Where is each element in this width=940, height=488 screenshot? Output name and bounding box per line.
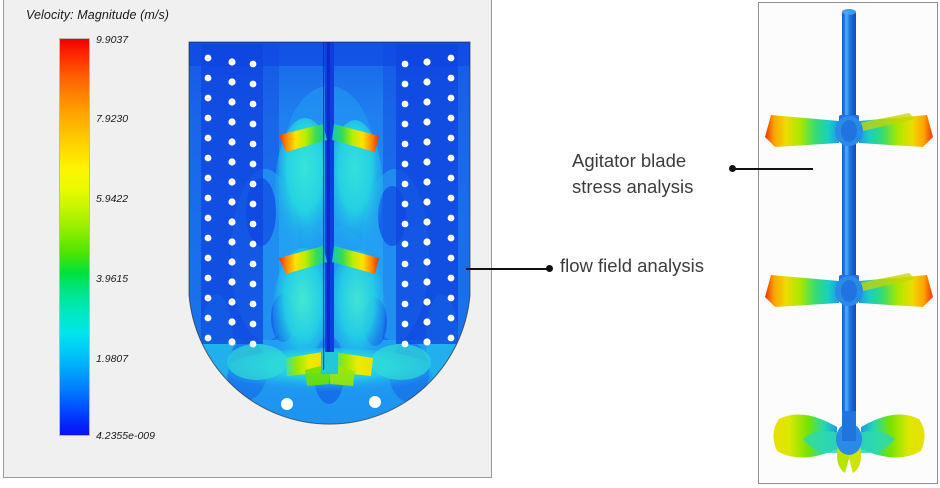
agitator-stress-leader-line xyxy=(733,168,813,170)
colorbar-tick-label-3: 3.9615 xyxy=(96,274,128,285)
vessel-field xyxy=(187,40,472,467)
coil-bundle-left xyxy=(201,44,263,347)
agitator-stress-annotation-line1: Agitator blade xyxy=(572,148,693,174)
vessel-cross-section xyxy=(187,40,472,467)
cfd-flow-field-panel: Velocity: Magnitude (m/s) 9.9037 7.9230 … xyxy=(3,0,492,478)
velocity-colorbar: 9.9037 7.9230 5.9422 3.9615 1.9807 4.235… xyxy=(59,38,159,440)
sparger-hole-left xyxy=(281,398,293,410)
colorbar-tick-label-2: 5.9422 xyxy=(96,194,128,205)
sparger-hole-right xyxy=(369,396,381,408)
agitator-stress-annotation-line2: stress analysis xyxy=(572,174,693,200)
colorbar-tick-label-0: 9.9037 xyxy=(96,35,128,46)
figure-root: Velocity: Magnitude (m/s) 9.9037 7.9230 … xyxy=(0,0,940,488)
velocity-colorbar-gradient xyxy=(59,38,90,436)
impeller-stress-bottom xyxy=(773,411,924,473)
agitator-shaft xyxy=(839,9,859,447)
impeller-stress-upper xyxy=(765,113,933,147)
colorbar-tick-label-1: 7.9230 xyxy=(96,114,128,125)
flow-field-leader-line xyxy=(466,268,548,270)
agitator-stress-panel xyxy=(758,2,938,484)
fea-svg xyxy=(759,3,937,483)
flow-field-annotation: flow field analysis xyxy=(560,253,704,279)
coil-bundle-right xyxy=(396,44,458,347)
contour-svg xyxy=(187,40,472,467)
velocity-contour-plot xyxy=(187,40,472,467)
colorbar-tick-label-4: 1.9807 xyxy=(96,354,128,365)
agitator-stress-leader-dot xyxy=(729,165,736,172)
colorbar-tick-label-5: 4.2355e-009 xyxy=(96,431,155,442)
agitator-stress-model xyxy=(759,3,937,483)
cfd-legend-title: Velocity: Magnitude (m/s) xyxy=(26,8,169,22)
impeller-stress-middle xyxy=(765,273,933,307)
flow-field-leader-dot xyxy=(546,265,553,272)
agitator-stress-annotation: Agitator blade stress analysis xyxy=(572,148,693,200)
